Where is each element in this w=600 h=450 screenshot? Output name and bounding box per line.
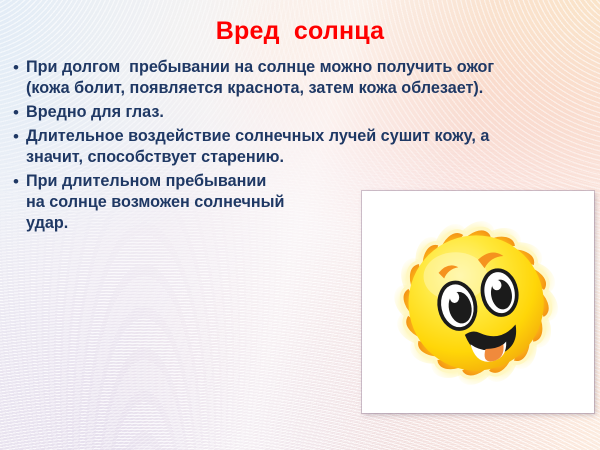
smiling-sun-icon <box>365 194 591 410</box>
bullet-marker-icon: • <box>6 102 26 123</box>
bullet-item-1: • При долгом пребывании на солнце можно … <box>6 57 536 99</box>
bullet-marker-icon: • <box>6 171 26 192</box>
sun-image-frame <box>362 191 594 413</box>
bullet-item-2: • Вредно для глаз. <box>6 102 536 123</box>
bullet-marker-icon: • <box>6 126 26 147</box>
slide-canvas: Вред солнца • При долгом пребывании на с… <box>0 0 600 450</box>
slide-title: Вред солнца <box>0 17 600 46</box>
bullet-item-2-text: Вредно для глаз. <box>26 102 536 123</box>
bullet-marker-icon: • <box>6 57 26 78</box>
bullet-item-3: • Длительное воздействие солнечных лучей… <box>6 126 536 168</box>
bullet-item-3-text: Длительное воздействие солнечных лучей с… <box>26 126 536 168</box>
bullet-item-1-text: При долгом пребывании на солнце можно по… <box>26 57 536 99</box>
